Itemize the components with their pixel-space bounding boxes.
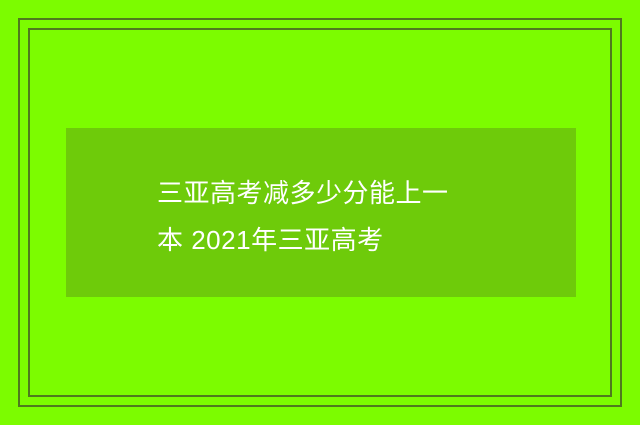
title-block: 三亚高考减多少分能上一 本 2021年三亚高考: [157, 170, 557, 264]
title-line-1: 三亚高考减多少分能上一: [157, 170, 557, 217]
title-panel: 三亚高考减多少分能上一 本 2021年三亚高考: [66, 128, 576, 297]
title-line-2: 本 2021年三亚高考: [157, 217, 557, 264]
banner-image: 三亚高考减多少分能上一 本 2021年三亚高考: [0, 0, 640, 425]
